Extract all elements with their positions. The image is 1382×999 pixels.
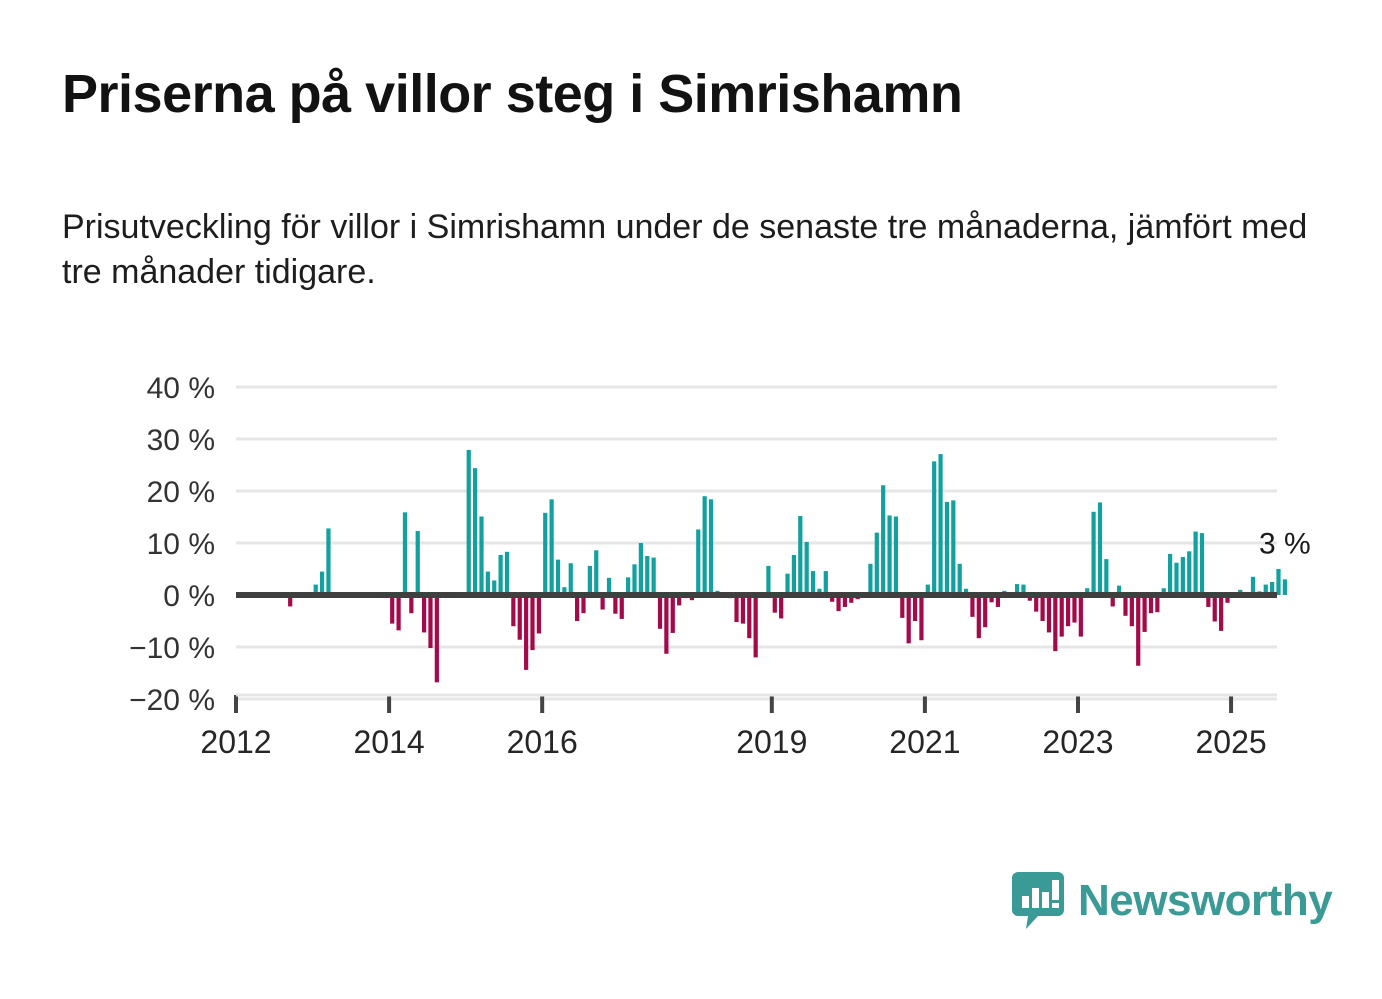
bar[interactable] <box>396 595 400 630</box>
bar[interactable] <box>945 502 949 595</box>
y-axis-tick-label: 20 % <box>147 476 215 509</box>
bar[interactable] <box>530 595 534 650</box>
bar[interactable] <box>894 516 898 595</box>
bar[interactable] <box>1053 595 1057 651</box>
bar[interactable] <box>652 558 656 595</box>
bar[interactable] <box>1213 595 1217 622</box>
bar[interactable] <box>875 533 879 595</box>
bar[interactable] <box>1091 512 1095 595</box>
bar[interactable] <box>1072 595 1076 623</box>
bar[interactable] <box>1174 563 1178 595</box>
bar[interactable] <box>868 564 872 595</box>
bar[interactable] <box>1123 595 1127 616</box>
bar[interactable] <box>703 496 707 595</box>
x-axis-tick-label: 2021 <box>889 724 960 760</box>
bar[interactable] <box>913 595 917 621</box>
y-axis-tick-label: 30 % <box>147 424 215 457</box>
bar[interactable] <box>499 555 503 595</box>
bar[interactable] <box>1047 595 1051 632</box>
bar[interactable] <box>1181 557 1185 595</box>
bar[interactable] <box>881 485 885 595</box>
bar-chart: 40 %30 %20 %10 %0 %−10 %−20 %20122014201… <box>0 0 1382 999</box>
bar[interactable] <box>435 595 439 682</box>
bar[interactable] <box>658 595 662 629</box>
bar[interactable] <box>1283 579 1287 595</box>
bar[interactable] <box>556 560 560 595</box>
newsworthy-logo-text: Newsworthy <box>1078 879 1332 923</box>
bar[interactable] <box>1200 533 1204 595</box>
bar[interactable] <box>671 595 675 633</box>
bar[interactable] <box>1079 595 1083 637</box>
bar[interactable] <box>550 499 554 595</box>
y-axis-tick-label: 0 % <box>163 580 215 613</box>
bar[interactable] <box>543 513 547 595</box>
bar[interactable] <box>416 531 420 595</box>
bar[interactable] <box>645 556 649 595</box>
x-axis-tick-label: 2014 <box>353 724 424 760</box>
bar[interactable] <box>639 543 643 595</box>
bar[interactable] <box>467 450 471 595</box>
bar[interactable] <box>798 516 802 595</box>
x-axis-tick-label: 2016 <box>507 724 578 760</box>
bar[interactable] <box>958 564 962 595</box>
bar[interactable] <box>970 595 974 617</box>
bar[interactable] <box>709 499 713 595</box>
bar[interactable] <box>428 595 432 648</box>
bar[interactable] <box>938 454 942 595</box>
bar[interactable] <box>511 595 515 626</box>
bar[interactable] <box>1168 554 1172 595</box>
bar[interactable] <box>919 595 923 640</box>
bar[interactable] <box>779 595 783 618</box>
y-axis-tick-label: 40 % <box>147 372 215 405</box>
bar[interactable] <box>1104 559 1108 595</box>
bar[interactable] <box>403 512 407 595</box>
chart-container: Priserna på villor steg i Simrishamn Pri… <box>0 0 1382 999</box>
bar[interactable] <box>1194 532 1198 595</box>
bar[interactable] <box>1187 551 1191 595</box>
bar[interactable] <box>326 528 330 595</box>
y-axis-tick-label: −20 % <box>129 684 215 717</box>
bar[interactable] <box>632 564 636 595</box>
bar[interactable] <box>951 500 955 595</box>
bar[interactable] <box>505 552 509 595</box>
x-axis-tick-label: 2025 <box>1195 724 1266 760</box>
bar[interactable] <box>486 572 490 595</box>
bar[interactable] <box>320 572 324 595</box>
bar[interactable] <box>390 595 394 624</box>
bar[interactable] <box>747 595 751 638</box>
bar[interactable] <box>1066 595 1070 626</box>
bar[interactable] <box>805 542 809 595</box>
bar[interactable] <box>664 595 668 654</box>
bar[interactable] <box>766 566 770 595</box>
bar[interactable] <box>824 571 828 595</box>
bar[interactable] <box>1219 595 1223 631</box>
bar[interactable] <box>696 529 700 595</box>
bar[interactable] <box>473 468 477 595</box>
bar[interactable] <box>741 595 745 624</box>
bar[interactable] <box>1276 569 1280 595</box>
bar[interactable] <box>754 595 758 657</box>
newsworthy-logo[interactable]: Newsworthy <box>1012 872 1332 930</box>
bar[interactable] <box>594 550 598 595</box>
y-axis-tick-label: 10 % <box>147 528 215 561</box>
last-value-annotation: 3 % <box>1259 527 1311 560</box>
bar[interactable] <box>537 595 541 633</box>
bar[interactable] <box>1130 595 1134 626</box>
bar[interactable] <box>569 563 573 595</box>
bar-chart-speech-bubble-icon <box>1012 872 1064 930</box>
bar[interactable] <box>785 574 789 595</box>
y-axis-tick-label: −10 % <box>129 632 215 665</box>
bar[interactable] <box>907 595 911 643</box>
bar[interactable] <box>422 595 426 632</box>
bar[interactable] <box>900 595 904 618</box>
bar[interactable] <box>1142 595 1146 632</box>
x-axis-tick-label: 2012 <box>200 724 271 760</box>
bar[interactable] <box>588 566 592 595</box>
bar[interactable] <box>977 595 981 638</box>
bar[interactable] <box>620 595 624 619</box>
bar[interactable] <box>518 595 522 640</box>
bar[interactable] <box>575 595 579 621</box>
bar[interactable] <box>1098 502 1102 595</box>
x-axis-tick-label: 2019 <box>736 724 807 760</box>
x-axis-tick-label: 2023 <box>1042 724 1113 760</box>
bar[interactable] <box>932 461 936 595</box>
bar[interactable] <box>792 555 796 595</box>
bar[interactable] <box>1136 595 1140 666</box>
bar[interactable] <box>1060 595 1064 637</box>
bar[interactable] <box>811 571 815 595</box>
bar[interactable] <box>983 595 987 627</box>
bar[interactable] <box>887 515 891 595</box>
bar[interactable] <box>1040 595 1044 621</box>
bar[interactable] <box>734 595 738 622</box>
bar[interactable] <box>479 516 483 595</box>
bar[interactable] <box>524 595 528 670</box>
